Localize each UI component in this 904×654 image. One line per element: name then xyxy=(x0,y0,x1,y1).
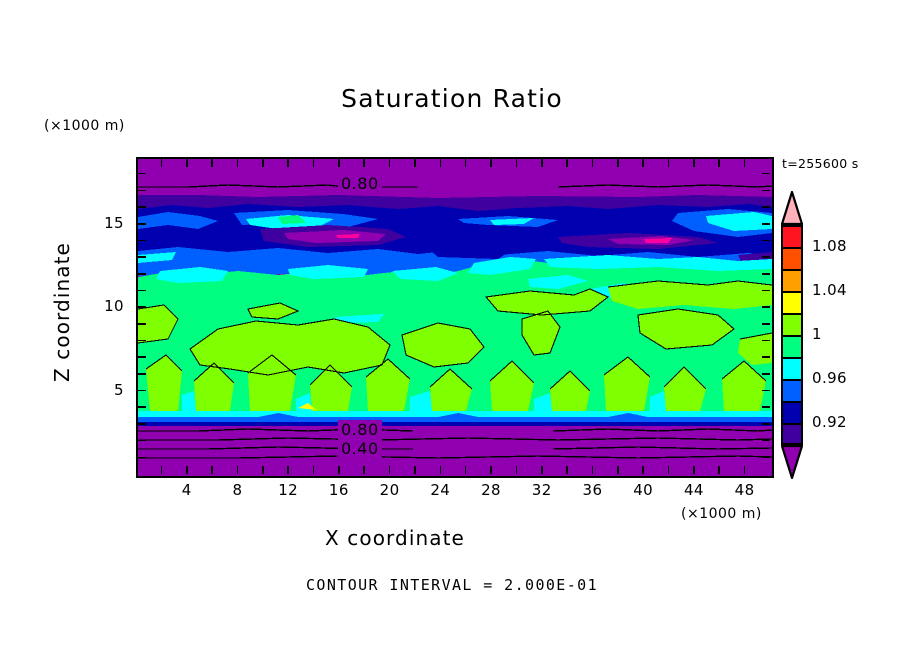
contour-field xyxy=(138,159,772,476)
colorbar-tick-label: 0.96 xyxy=(812,369,847,387)
x-tick-label: 28 xyxy=(471,481,511,499)
x-tick xyxy=(186,159,188,167)
x-tick xyxy=(262,159,264,167)
y-tick xyxy=(138,273,146,275)
x-tick-label: 32 xyxy=(522,481,562,499)
y-tick xyxy=(138,423,146,425)
x-tick xyxy=(642,159,644,167)
colorbar-cap-top xyxy=(781,191,803,225)
y-tick xyxy=(138,323,146,325)
x-tick-label: 48 xyxy=(725,481,765,499)
y-tick xyxy=(762,340,770,342)
colorbar-band[interactable] xyxy=(781,379,803,401)
x-tick-label: 36 xyxy=(572,481,612,499)
x-tick xyxy=(440,466,442,474)
x-tick-label: 12 xyxy=(268,481,308,499)
colorbar-band[interactable] xyxy=(781,335,803,357)
x-tick xyxy=(287,466,289,474)
x-axis-units: (×1000 m) xyxy=(681,506,762,522)
x-tick xyxy=(668,466,670,474)
x-tick xyxy=(389,159,391,167)
y-tick xyxy=(138,240,146,242)
x-tick xyxy=(262,466,264,474)
y-tick xyxy=(762,223,770,225)
x-tick xyxy=(490,466,492,474)
y-axis-label: Z coordinate xyxy=(50,212,74,412)
x-tick xyxy=(237,466,239,474)
x-tick xyxy=(693,466,695,474)
colorbar-band[interactable] xyxy=(781,291,803,313)
y-tick-label: 15 xyxy=(92,214,124,232)
x-tick xyxy=(161,159,163,167)
x-axis-label: X coordinate xyxy=(0,526,790,550)
y-tick-label: 5 xyxy=(92,381,124,399)
x-tick xyxy=(541,159,543,167)
x-tick xyxy=(237,159,239,167)
x-tick xyxy=(287,159,289,167)
colorbar-band[interactable] xyxy=(781,313,803,335)
y-tick xyxy=(138,440,146,442)
x-tick xyxy=(490,159,492,167)
y-tick xyxy=(762,406,770,408)
contour-plot-area xyxy=(136,157,774,478)
x-tick xyxy=(718,159,720,167)
z-axis-units: (×1000 m) xyxy=(44,118,125,134)
y-tick xyxy=(138,173,146,175)
x-tick xyxy=(211,159,213,167)
colorbar-tick-label: 0.92 xyxy=(812,413,847,431)
contour-label-top: 0.80 xyxy=(338,174,382,193)
x-tick xyxy=(744,466,746,474)
contour-label-lower-080: 0.80 xyxy=(338,420,382,439)
colorbar-band[interactable] xyxy=(781,401,803,423)
x-tick xyxy=(338,159,340,167)
y-tick xyxy=(762,290,770,292)
y-tick xyxy=(762,440,770,442)
x-tick xyxy=(566,466,568,474)
x-tick xyxy=(414,159,416,167)
y-tick xyxy=(762,373,770,375)
x-tick-label: 8 xyxy=(217,481,257,499)
x-tick xyxy=(389,466,391,474)
y-tick xyxy=(762,390,770,392)
colorbar-cap-bottom xyxy=(781,445,803,479)
x-tick xyxy=(617,466,619,474)
y-tick xyxy=(762,306,770,308)
colorbar-band[interactable] xyxy=(781,247,803,269)
x-tick xyxy=(338,466,340,474)
x-tick xyxy=(363,466,365,474)
x-tick-label: 4 xyxy=(167,481,207,499)
y-tick xyxy=(762,173,770,175)
colorbar[interactable] xyxy=(781,225,803,445)
x-tick-label: 16 xyxy=(319,481,359,499)
page-title: Saturation Ratio xyxy=(0,84,904,113)
x-tick xyxy=(465,159,467,167)
y-tick xyxy=(762,457,770,459)
x-tick xyxy=(465,466,467,474)
y-tick xyxy=(138,256,146,258)
y-tick xyxy=(762,206,770,208)
y-tick xyxy=(138,306,146,308)
y-tick xyxy=(138,290,146,292)
x-tick xyxy=(642,466,644,474)
colorbar-band[interactable] xyxy=(781,225,803,247)
x-tick xyxy=(363,159,365,167)
x-tick xyxy=(693,159,695,167)
y-tick xyxy=(138,406,146,408)
x-tick xyxy=(440,159,442,167)
contour-label-lower-040: 0.40 xyxy=(338,439,382,458)
timestamp-label: t=255600 s xyxy=(782,156,859,171)
colorbar-tick-label: 1.08 xyxy=(812,237,847,255)
x-tick xyxy=(668,159,670,167)
colorbar-band[interactable] xyxy=(781,423,803,445)
y-tick xyxy=(138,206,146,208)
x-tick-label: 20 xyxy=(370,481,410,499)
y-tick-label: 10 xyxy=(92,297,124,315)
x-tick xyxy=(516,159,518,167)
x-tick xyxy=(313,466,315,474)
y-tick xyxy=(138,457,146,459)
colorbar-tick-label: 1.04 xyxy=(812,281,847,299)
colorbar-band[interactable] xyxy=(781,357,803,379)
x-tick xyxy=(718,466,720,474)
y-tick xyxy=(762,273,770,275)
x-tick xyxy=(592,159,594,167)
x-tick xyxy=(516,466,518,474)
x-tick-label: 24 xyxy=(420,481,460,499)
x-tick xyxy=(592,466,594,474)
y-tick xyxy=(762,356,770,358)
y-tick xyxy=(762,256,770,258)
x-tick xyxy=(414,466,416,474)
x-tick xyxy=(541,466,543,474)
contour-interval-caption: CONTOUR INTERVAL = 2.000E-01 xyxy=(0,576,904,594)
y-tick xyxy=(762,323,770,325)
x-tick-label: 40 xyxy=(623,481,663,499)
colorbar-band[interactable] xyxy=(781,269,803,291)
x-tick xyxy=(313,159,315,167)
y-tick xyxy=(762,240,770,242)
y-tick xyxy=(138,390,146,392)
x-tick xyxy=(617,159,619,167)
y-tick xyxy=(138,190,146,192)
y-tick xyxy=(138,340,146,342)
y-tick xyxy=(138,373,146,375)
x-tick xyxy=(161,466,163,474)
colorbar-tick-label: 1 xyxy=(812,325,822,343)
y-tick xyxy=(762,190,770,192)
x-tick xyxy=(186,466,188,474)
y-tick xyxy=(138,356,146,358)
x-tick-label: 44 xyxy=(674,481,714,499)
x-tick xyxy=(211,466,213,474)
x-tick xyxy=(566,159,568,167)
y-tick xyxy=(762,423,770,425)
y-tick xyxy=(138,223,146,225)
x-tick xyxy=(744,159,746,167)
